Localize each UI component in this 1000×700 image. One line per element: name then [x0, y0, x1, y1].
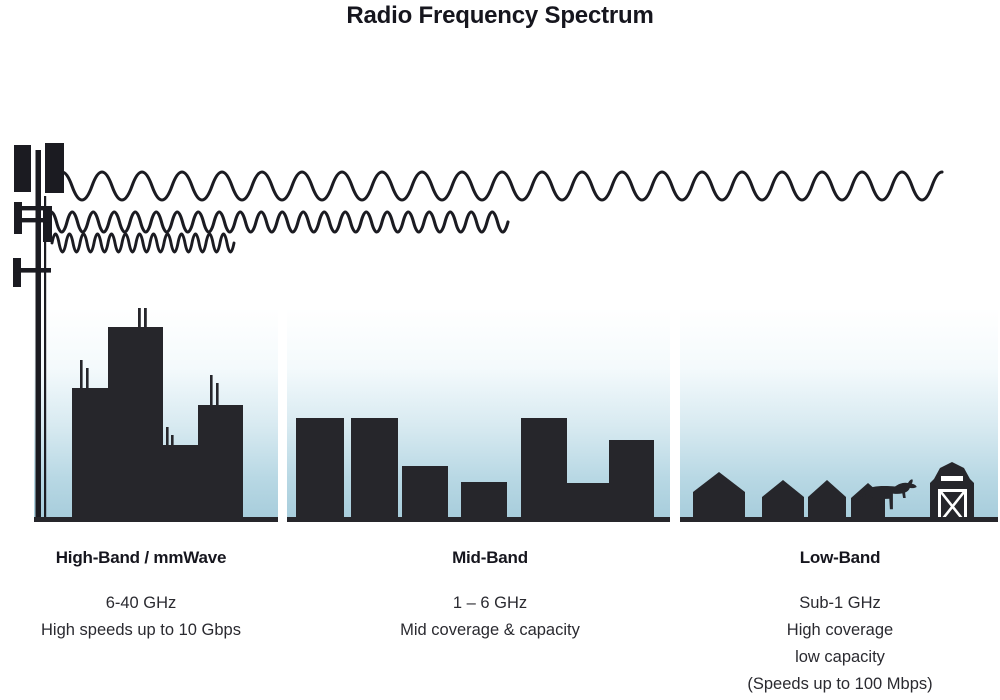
- ground-line: [34, 517, 998, 522]
- building-icon: [402, 466, 448, 521]
- band-detail-low-band-2: low capacity: [680, 644, 1000, 671]
- building-icon: [521, 418, 567, 521]
- wave-high-band: [52, 234, 234, 252]
- skyscraper-icon: [108, 327, 163, 521]
- band-label-high-band: High-Band / mmWave: [0, 548, 282, 568]
- wave-low-band: [52, 172, 942, 200]
- band-label-low-band: Low-Band: [680, 548, 1000, 568]
- building-icon: [461, 482, 507, 521]
- band-frequency-low-band: Sub-1 GHz: [680, 590, 1000, 617]
- skyscraper-icon: [198, 405, 243, 521]
- infographic-canvas: Radio Frequency Spectrum: [0, 0, 1000, 700]
- building-icon: [609, 440, 654, 521]
- band-detail-high-band-1: High speeds up to 10 Gbps: [0, 617, 282, 644]
- building-icon: [567, 483, 610, 521]
- band-description-high-band: 6-40 GHz High speeds up to 10 Gbps: [0, 590, 282, 644]
- band-frequency-high-band: 6-40 GHz: [0, 590, 282, 617]
- band-detail-low-band-3: (Speeds up to 100 Mbps): [680, 671, 1000, 698]
- building-icon: [351, 418, 398, 521]
- band-description-mid-band: 1 – 6 GHz Mid coverage & capacity: [330, 590, 650, 644]
- building-icon: [296, 418, 344, 521]
- band-detail-low-band-1: High coverage: [680, 617, 1000, 644]
- band-description-low-band: Sub-1 GHz High coverage low capacity (Sp…: [680, 590, 1000, 698]
- wave-group: [46, 172, 942, 252]
- band-detail-mid-band-1: Mid coverage & capacity: [330, 617, 650, 644]
- band-frequency-mid-band: 1 – 6 GHz: [330, 590, 650, 617]
- band-label-mid-band: Mid-Band: [330, 548, 650, 568]
- wave-mid-band: [46, 212, 508, 232]
